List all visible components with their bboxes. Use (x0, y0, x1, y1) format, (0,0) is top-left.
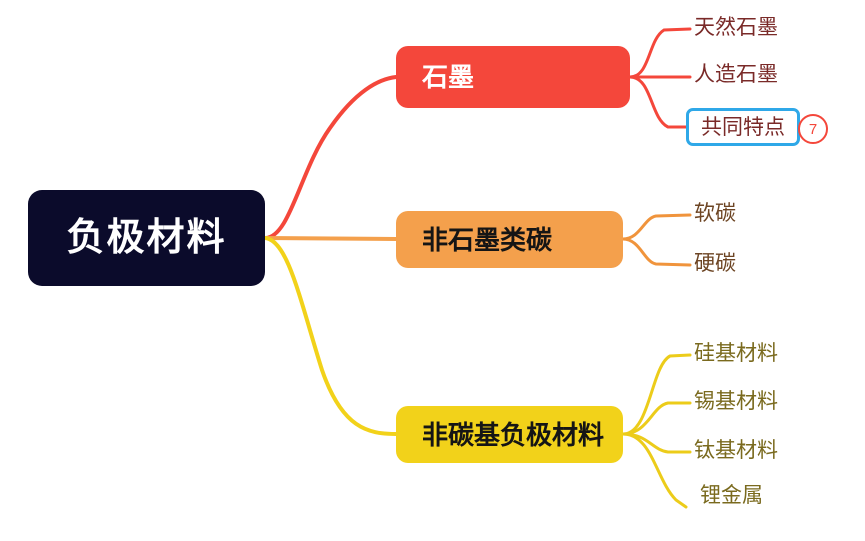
edge-noncarbon-to-silicon (623, 355, 690, 434)
status-badge[interactable]: 7 (798, 114, 828, 144)
leaf-node-artificial-graphite-label: 人造石墨 (694, 64, 778, 85)
status-badge-label: 7 (809, 122, 817, 137)
leaf-node-titanium-based[interactable]: 钛基材料 (694, 440, 778, 461)
root-node-label: 负极材料 (66, 219, 226, 257)
leaf-node-natural-graphite-label: 天然石墨 (694, 17, 778, 38)
edge-root-to-noncarbon (265, 238, 396, 434)
leaf-node-common-features-label: 共同特点 (701, 117, 785, 138)
branch-node-non-carbon-anode[interactable]: 非碳基负极材料 (396, 406, 623, 463)
leaf-node-hard-carbon[interactable]: 硬碳 (694, 253, 736, 274)
edge-graphite-to-natural (630, 29, 690, 77)
leaf-node-natural-graphite[interactable]: 天然石墨 (694, 17, 778, 38)
edge-noncarbon-to-tin (623, 403, 690, 434)
branch-node-non-graphitic-carbon-label: 非石墨类碳 (422, 227, 552, 253)
leaf-node-soft-carbon-label: 软碳 (694, 203, 736, 224)
branch-node-non-carbon-anode-label: 非碳基负极材料 (422, 422, 604, 448)
leaf-node-tin-based[interactable]: 锡基材料 (694, 391, 778, 412)
edge-noncarbon-to-titanium (623, 434, 690, 452)
branch-node-graphite-label: 石墨 (422, 64, 474, 90)
leaf-node-soft-carbon[interactable]: 软碳 (694, 203, 736, 224)
leaf-node-artificial-graphite[interactable]: 人造石墨 (694, 64, 778, 85)
edge-nongraphitic-to-hard (623, 239, 690, 265)
branch-node-graphite[interactable]: 石墨 (396, 46, 630, 108)
leaf-node-lithium-metal[interactable]: 锂金属 (700, 485, 763, 506)
leaf-node-lithium-metal-label: 锂金属 (700, 485, 763, 506)
edge-root-to-graphite (265, 77, 396, 238)
edge-graphite-to-common (630, 77, 686, 127)
edge-noncarbon-to-lithium (623, 434, 686, 507)
leaf-node-silicon-based[interactable]: 硅基材料 (694, 343, 778, 364)
mindmap-canvas: 负极材料 石墨 天然石墨 人造石墨 共同特点 7 非石墨类碳 软碳 硬碳 非碳基… (0, 0, 865, 541)
branch-node-non-graphitic-carbon[interactable]: 非石墨类碳 (396, 211, 623, 268)
edge-root-to-nongraphitic (265, 238, 396, 239)
leaf-node-hard-carbon-label: 硬碳 (694, 253, 736, 274)
leaf-node-common-features[interactable]: 共同特点 (686, 108, 800, 146)
leaf-node-tin-based-label: 锡基材料 (694, 391, 778, 412)
edge-nongraphitic-to-soft (623, 215, 690, 239)
root-node[interactable]: 负极材料 (28, 190, 265, 286)
leaf-node-titanium-based-label: 钛基材料 (694, 440, 778, 461)
leaf-node-silicon-based-label: 硅基材料 (694, 343, 778, 364)
